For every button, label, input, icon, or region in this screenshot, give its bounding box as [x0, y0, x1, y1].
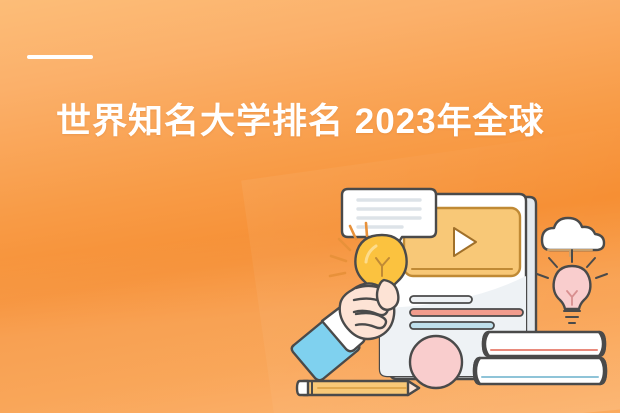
page-title: 世界知名大学排名 2023年全球: [56, 99, 620, 145]
online-learning-illustration: [286, 172, 620, 413]
avatar-circle: [410, 336, 462, 388]
small-lightbulb-icon: [537, 250, 607, 323]
decorative-rule: [27, 55, 93, 59]
pencil-icon: [297, 381, 419, 395]
article-banner: 世界知名大学排名 2023年全球: [0, 0, 620, 413]
book-top: [483, 332, 605, 356]
book-bottom: [474, 358, 606, 384]
book-stack: [474, 332, 606, 384]
